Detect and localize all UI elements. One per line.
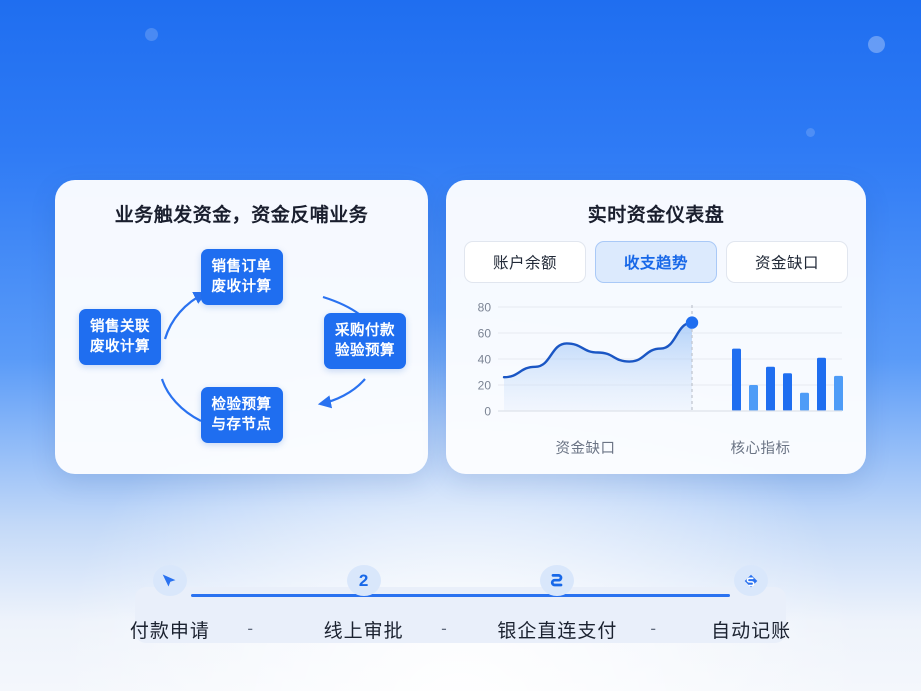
tab-account-balance[interactable]: 账户余额: [464, 241, 586, 283]
cycle-node-right-line2: 验验预算: [335, 341, 395, 361]
flow-step-label-1: 付款申请: [130, 616, 210, 643]
auto-ledger-icon: [734, 565, 768, 596]
cycle-node-bottom-line1: 检验预算: [212, 395, 272, 415]
dashboard-card-title: 实时资金仪表盘: [464, 200, 848, 227]
flow-step-bank-direct-payment[interactable]: 银企直连支付: [461, 565, 655, 643]
step-number-icon: 2: [347, 565, 381, 596]
cycle-node-bottom[interactable]: 检验预算 与存节点: [201, 387, 283, 443]
cycle-diagram: 销售订单 废收计算 采购付款 验验预算 检验预算 与存节点 销售关联 废收计算: [73, 235, 410, 447]
flow-step-auto-bookkeeping[interactable]: 自动记账: [654, 565, 848, 643]
svg-text:40: 40: [478, 353, 492, 367]
tab-funding-gap[interactable]: 资金缺口: [726, 241, 848, 283]
svg-text:20: 20: [478, 379, 492, 393]
svg-text:0: 0: [484, 405, 491, 419]
svg-text:60: 60: [478, 327, 492, 341]
svg-text:80: 80: [478, 301, 492, 315]
cycle-node-left-line2: 废收计算: [90, 337, 150, 357]
cycle-node-top[interactable]: 销售订单 废收计算: [201, 249, 283, 305]
chart-x-labels: 资金缺口 核心指标: [464, 437, 848, 458]
cards-row: 业务触发资金，资金反哺业务 销售订单 废收计算: [0, 180, 921, 474]
chart: 020406080: [464, 299, 848, 434]
decor-circle-2: [868, 36, 885, 53]
flow-separator-2: -: [441, 619, 447, 639]
page-root: 邑泊咨询：业财资一体化智能协同管家 打破数据壁垒，构建业财资一体化管理体系 业务…: [0, 0, 921, 691]
x-label-funding-gap: 资金缺口: [498, 437, 673, 458]
decor-circle-1: [145, 28, 158, 41]
flow-separator-3: -: [650, 619, 656, 639]
send-plane-icon: [153, 565, 187, 596]
cycle-node-right[interactable]: 采购付款 验验预算: [324, 313, 406, 369]
decor-circle-3: [806, 128, 815, 137]
dashboard-card: 实时资金仪表盘 账户余额 收支趋势 资金缺口 020406080 资金缺口 核心…: [446, 180, 866, 474]
cycle-node-bottom-line2: 与存节点: [212, 415, 272, 435]
x-label-core-metrics: 核心指标: [673, 437, 848, 458]
flow-step-label-2: 线上审批: [324, 616, 404, 643]
flow-step-label-3: 银企直连支付: [497, 616, 617, 643]
dashboard-tabs: 账户余额 收支趋势 资金缺口: [464, 241, 848, 283]
cycle-node-top-line1: 销售订单: [212, 257, 272, 277]
flow-body: 付款申请 2 线上审批 银企直连支付 自动记账: [73, 565, 848, 643]
cycle-node-right-line1: 采购付款: [335, 321, 395, 341]
cycle-card-title: 业务触发资金，资金反哺业务: [73, 200, 410, 227]
bank-link-icon: [540, 565, 574, 596]
tab-income-expense-trend[interactable]: 收支趋势: [595, 241, 717, 283]
flow-step-label-4: 自动记账: [711, 616, 791, 643]
flow-step-online-approval[interactable]: 2 线上审批: [267, 565, 461, 643]
flow-step-payment-request[interactable]: 付款申请: [73, 565, 267, 643]
flow-steps: 付款申请 2 线上审批 银企直连支付 自动记账: [73, 565, 848, 643]
chart-canvas: 020406080: [464, 299, 848, 429]
cycle-node-left[interactable]: 销售关联 废收计算: [79, 309, 161, 365]
cycle-card: 业务触发资金，资金反哺业务 销售订单 废收计算: [55, 180, 428, 474]
cycle-node-top-line2: 废收计算: [212, 277, 272, 297]
flow-separator-1: -: [247, 619, 253, 639]
cycle-node-left-line1: 销售关联: [90, 317, 150, 337]
